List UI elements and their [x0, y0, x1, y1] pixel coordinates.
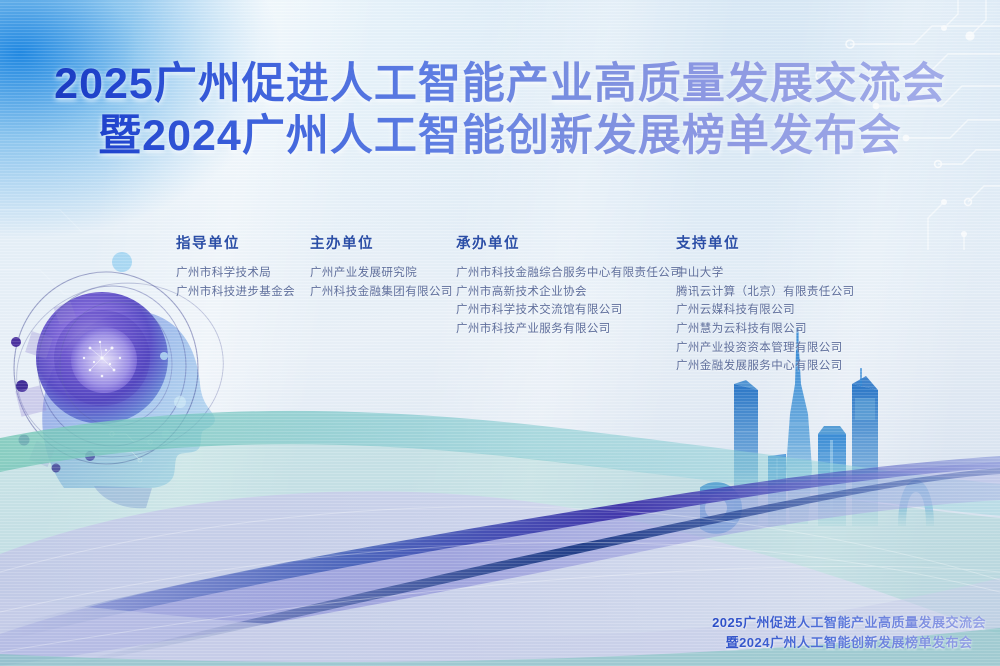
- org-item: 广州市科学技术局: [176, 264, 295, 283]
- org-item: 广州市科技进步基金会: [176, 283, 295, 302]
- org-item: 广州云媒科技有限公司: [676, 301, 855, 320]
- org-heading: 承办单位: [456, 232, 682, 253]
- org-item: 中山大学: [676, 264, 855, 283]
- org-column-guidance: 指导单位 广州市科学技术局 广州市科技进步基金会: [176, 232, 295, 301]
- org-item: 广州市科学技术交流馆有限公司: [456, 301, 682, 320]
- org-item: 腾讯云计算（北京）有限责任公司: [676, 283, 855, 302]
- org-item: 广州产业投资资本管理有限公司: [676, 339, 855, 358]
- poster-stage: 2025广州促进人工智能产业高质量发展交流会 暨2024广州人工智能创新发展榜单…: [0, 0, 1000, 666]
- watermark-line-2: 暨2024广州人工智能创新发展榜单发布会: [712, 633, 986, 653]
- org-heading: 主办单位: [310, 232, 453, 253]
- org-heading: 指导单位: [176, 232, 295, 253]
- org-item: 广州慧为云科技有限公司: [676, 320, 855, 339]
- org-item: 广州科技金融集团有限公司: [310, 283, 453, 302]
- org-item: 广州产业发展研究院: [310, 264, 453, 283]
- org-item: 广州市科技产业服务有限公司: [456, 320, 682, 339]
- watermark-line-1: 2025广州促进人工智能产业高质量发展交流会: [712, 613, 986, 633]
- event-title: 2025广州促进人工智能产业高质量发展交流会 暨2024广州人工智能创新发展榜单…: [0, 58, 1000, 163]
- title-line-1: 2025广州促进人工智能产业高质量发展交流会: [0, 58, 1000, 110]
- org-item: 广州金融发展服务中心有限公司: [676, 357, 855, 376]
- org-heading: 支持单位: [676, 232, 855, 253]
- org-column-host: 主办单位 广州产业发展研究院 广州科技金融集团有限公司: [310, 232, 453, 301]
- title-line-2: 暨2024广州人工智能创新发展榜单发布会: [0, 110, 1000, 162]
- org-item: 广州市科技金融综合服务中心有限责任公司: [456, 264, 682, 283]
- corner-watermark: 2025广州促进人工智能产业高质量发展交流会 暨2024广州人工智能创新发展榜单…: [712, 613, 986, 652]
- org-column-organizer: 承办单位 广州市科技金融综合服务中心有限责任公司 广州市高新技术企业协会 广州市…: [456, 232, 682, 339]
- org-column-supporter: 支持单位 中山大学 腾讯云计算（北京）有限责任公司 广州云媒科技有限公司 广州慧…: [676, 232, 855, 376]
- org-item: 广州市高新技术企业协会: [456, 283, 682, 302]
